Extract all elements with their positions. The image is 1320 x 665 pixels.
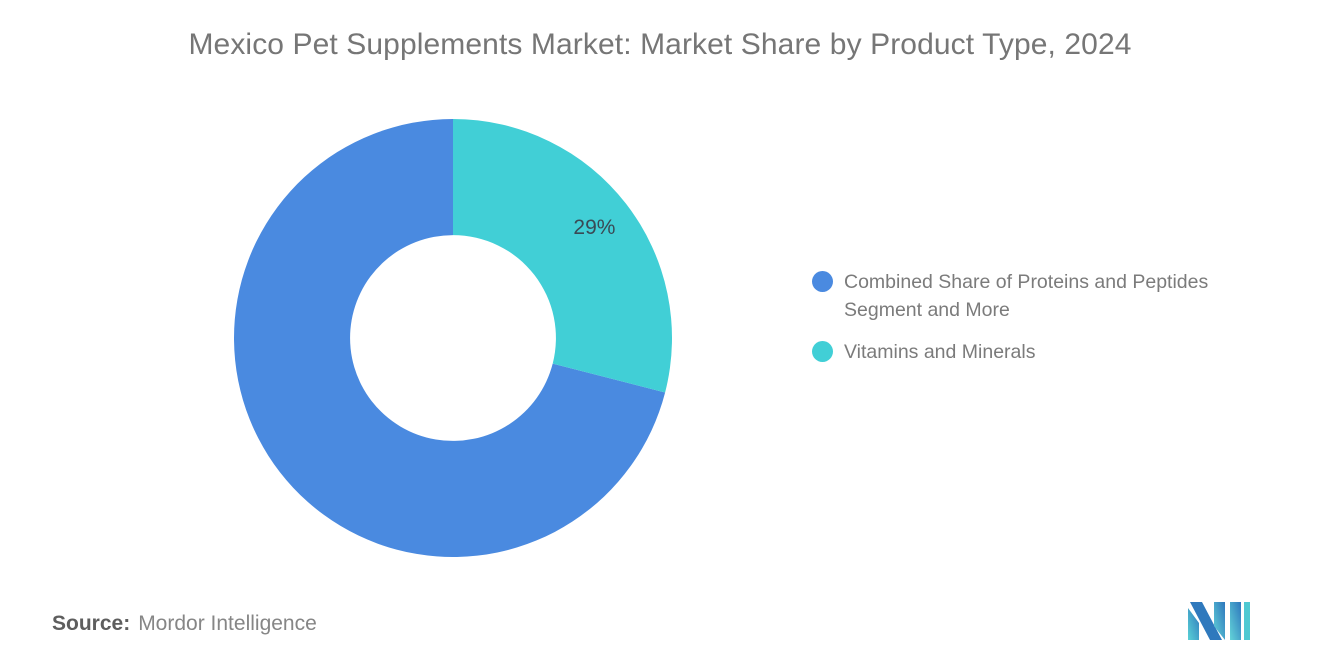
chart-legend: Combined Share of Proteins and Peptides … xyxy=(812,268,1282,380)
source-line: Source:Mordor Intelligence xyxy=(52,612,317,636)
source-label: Source: xyxy=(52,612,130,635)
donut-svg: 29% xyxy=(234,119,672,557)
chart-figure: Mexico Pet Supplements Market: Market Sh… xyxy=(0,0,1320,665)
logo-svg xyxy=(1186,596,1252,642)
legend-color-swatch-icon xyxy=(812,341,833,362)
mordor-intelligence-logo-icon xyxy=(1186,596,1252,642)
donut-chart: 29% xyxy=(234,119,672,557)
chart-title: Mexico Pet Supplements Market: Market Sh… xyxy=(0,28,1320,62)
pie-slice-vitamins-and-minerals[interactable] xyxy=(453,119,672,392)
pie-slice-data-label: 29% xyxy=(573,216,615,239)
source-value: Mordor Intelligence xyxy=(138,612,317,635)
legend-item-combined-share[interactable]: Combined Share of Proteins and Peptides … xyxy=(812,268,1282,324)
legend-item-label: Vitamins and Minerals xyxy=(844,338,1035,366)
legend-item-vitamins-and-minerals[interactable]: Vitamins and Minerals xyxy=(812,338,1282,366)
legend-item-label: Combined Share of Proteins and Peptides … xyxy=(844,268,1264,324)
legend-color-swatch-icon xyxy=(812,271,833,292)
